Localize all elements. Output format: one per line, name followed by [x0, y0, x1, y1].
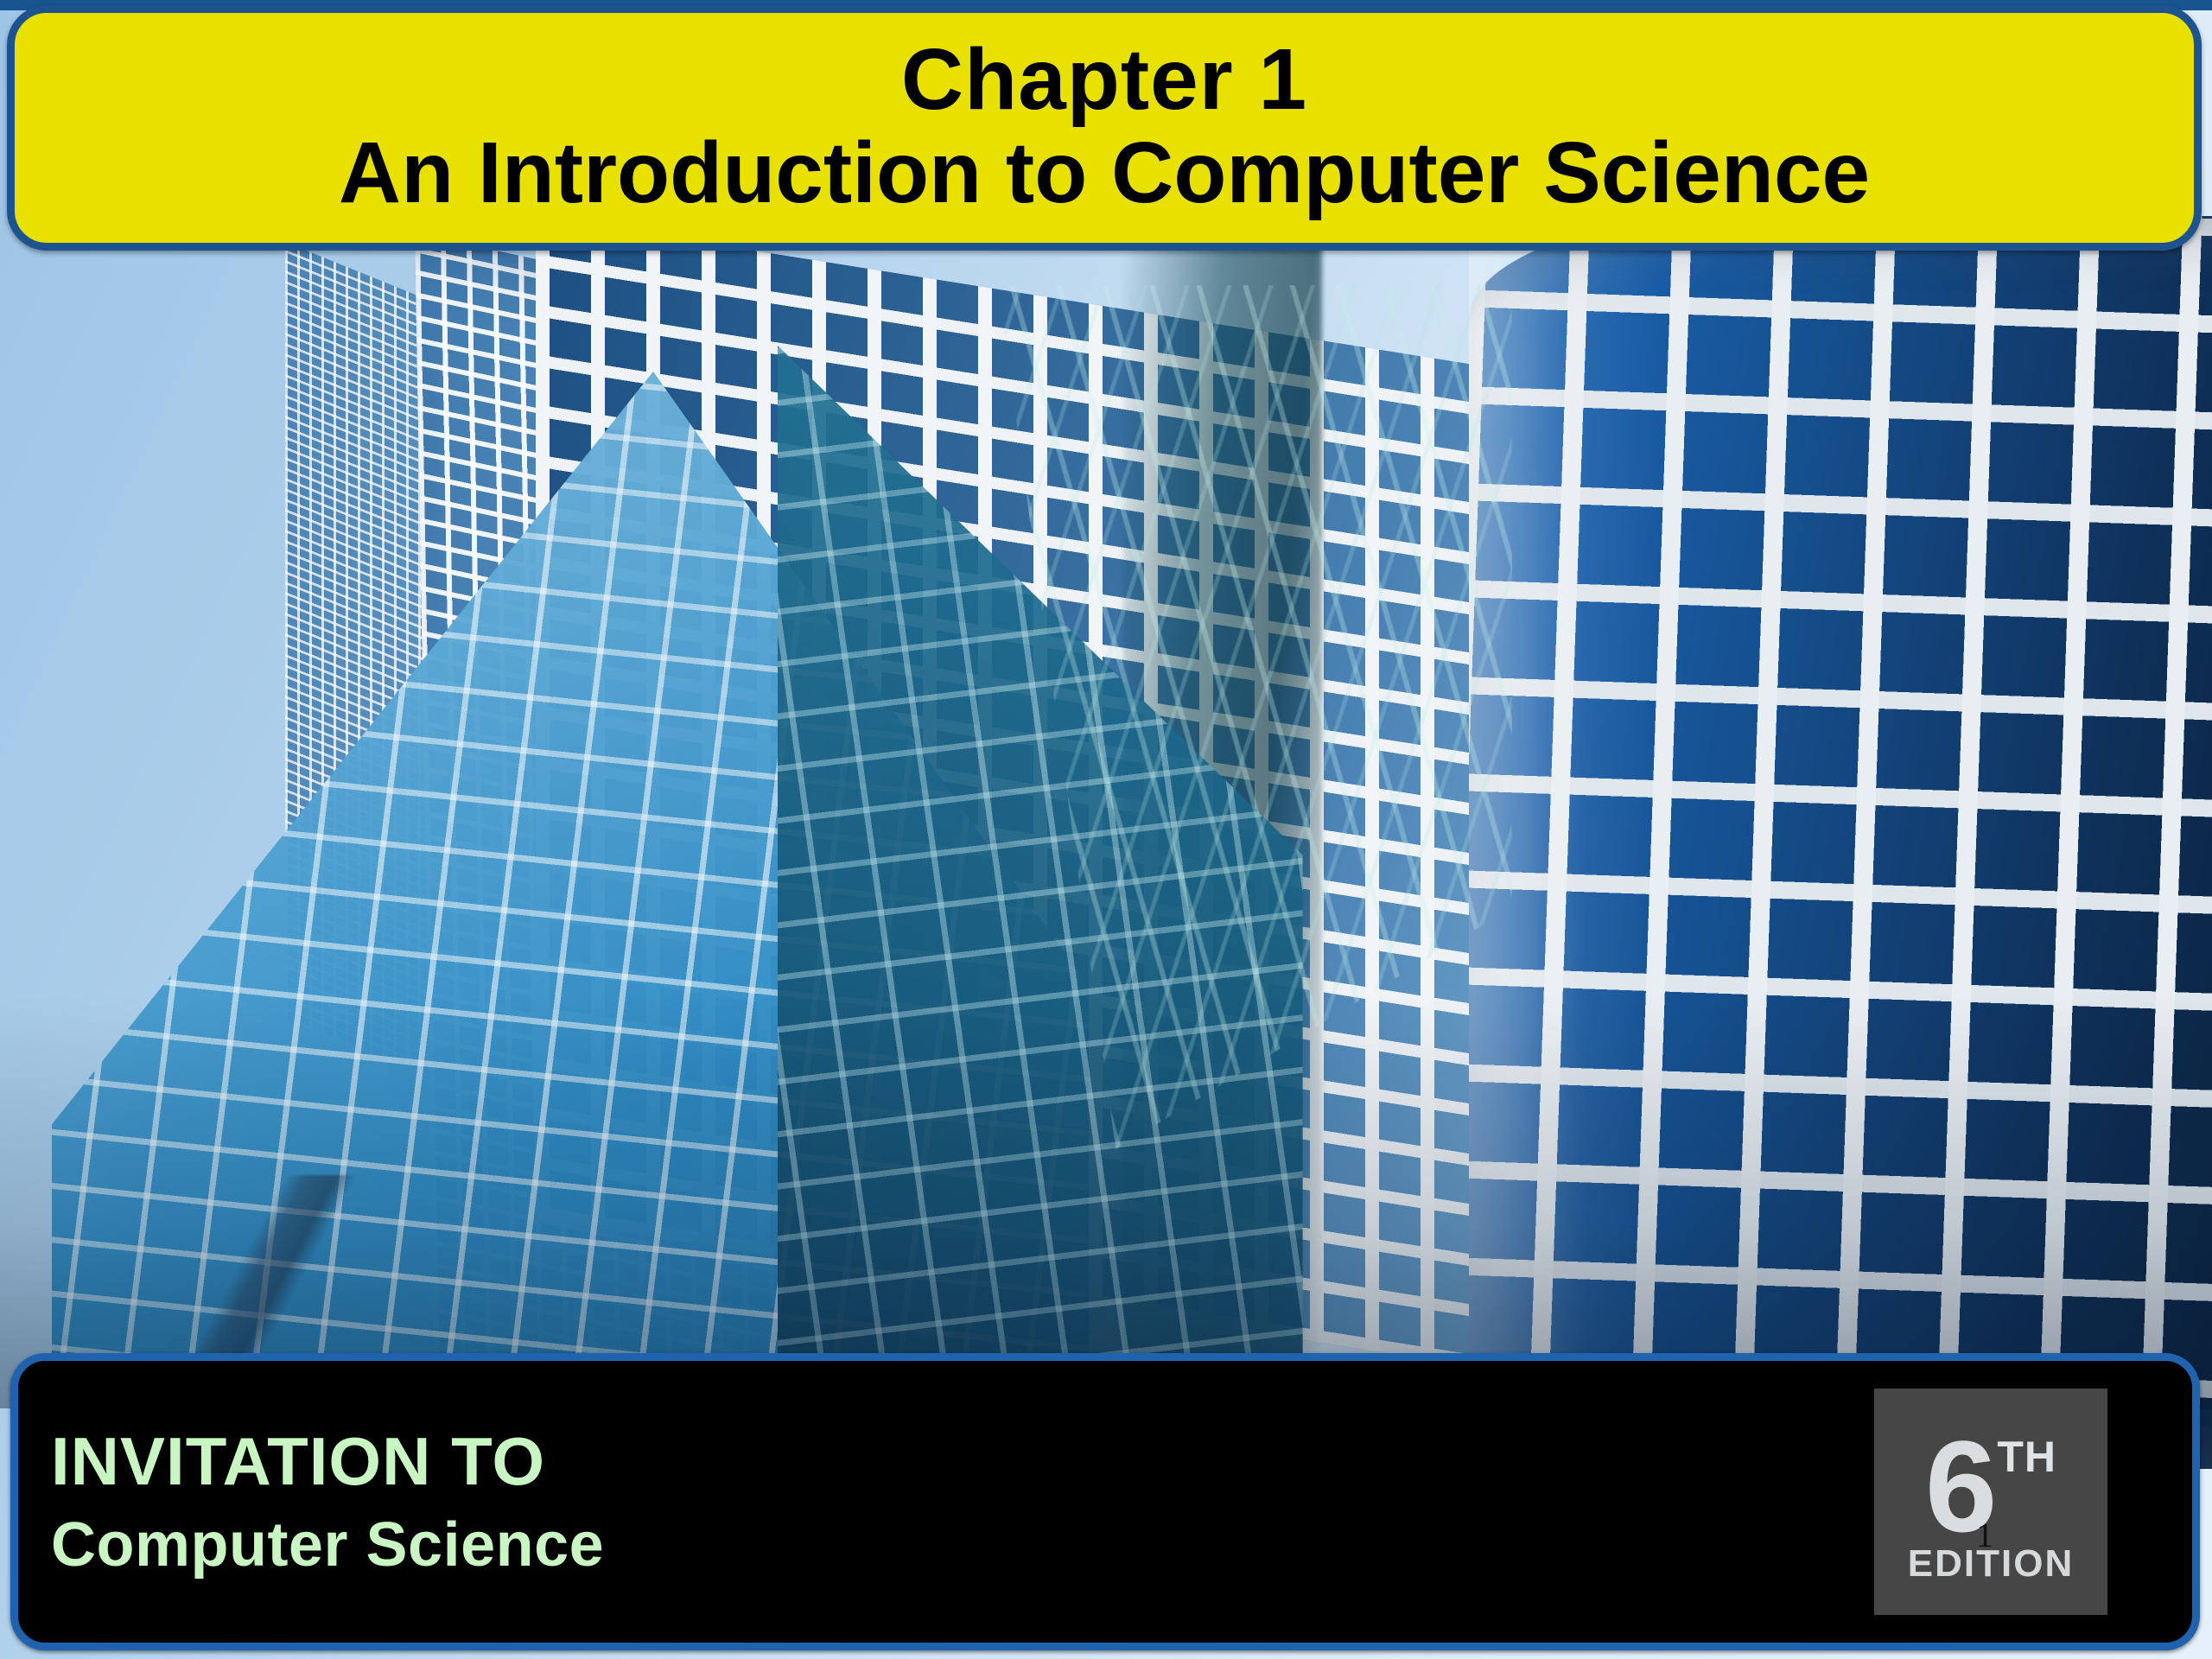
book-series-label: INVITATION TO — [51, 1427, 604, 1495]
slide-footer-bar: INVITATION TO Computer Science 6 TH EDIT… — [10, 1353, 2200, 1650]
edition-ordinal-suffix: TH — [1997, 1435, 2056, 1478]
edition-badge: 6 TH EDITION 1 — [1874, 1389, 2107, 1615]
book-title-label: Computer Science — [51, 1514, 604, 1576]
slide-title-box: Chapter 1 An Introduction to Computer Sc… — [7, 5, 2202, 251]
slide-number: 1 — [1976, 1518, 1993, 1553]
chapter-title-heading: An Introduction to Computer Science — [339, 126, 1870, 219]
photo-vignette — [0, 994, 2212, 1408]
presentation-slide: Chapter 1 An Introduction to Computer Sc… — [0, 0, 2212, 1659]
chapter-number-heading: Chapter 1 — [901, 33, 1307, 126]
book-brand-block: INVITATION TO Computer Science — [51, 1427, 604, 1576]
